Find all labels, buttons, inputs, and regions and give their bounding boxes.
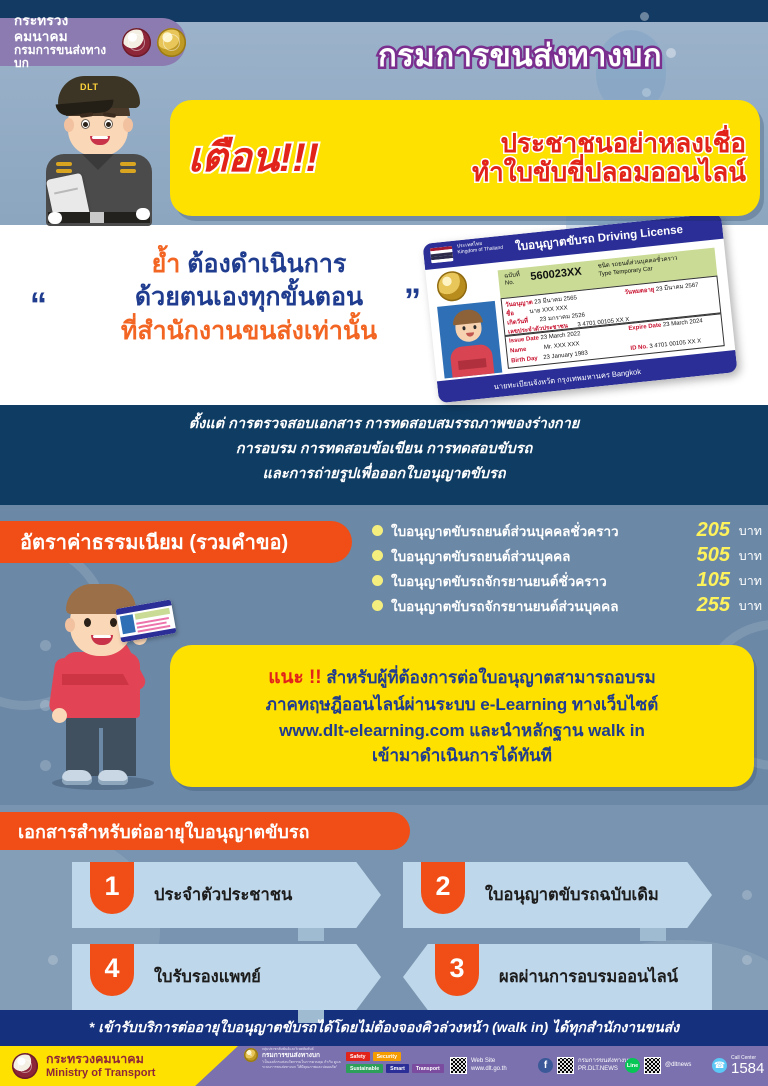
line-icon[interactable]: Line <box>625 1058 640 1073</box>
fee-row: ใบอนุญาตขับรถยนต์ส่วนบุคคล 505 บาท <box>372 543 762 568</box>
emphasis-lead: ย้ำ <box>152 250 181 278</box>
callcenter-number: 1584 <box>731 1061 764 1076</box>
phone-icon[interactable]: ☎ <box>712 1058 727 1073</box>
footnote-text: * เข้ารับบริการต่ออายุใบอนุญาตขับรถได้โด… <box>89 1017 679 1039</box>
process-line-2: การอบรม การทดสอบข้อเขียน การทดสอบขับรถ <box>0 437 768 462</box>
fee-amount: 505 <box>678 544 730 567</box>
facebook-handle: PR.DLT.NEWS <box>578 1066 632 1073</box>
tag-transport: Transport <box>412 1064 444 1073</box>
tag-safety: Safety <box>346 1052 370 1061</box>
tip-line-1: สำหรับผู้ที่ต้องการต่อใบอนุญาตสามารถอบรม <box>326 668 655 687</box>
tip-line-2: ภาคทฤษฎีออนไลน์ผ่านระบบ e-Learning ทางเว… <box>266 692 659 718</box>
footer-ministry-en: Ministry of Transport <box>46 1067 155 1079</box>
document-step-2: 2 ใบอนุญาตขับรถฉบับเดิม <box>403 862 712 928</box>
footer-dlt-name: กรมการขนส่งทางบก <box>262 1052 341 1059</box>
bullet-icon <box>372 575 383 586</box>
footer: กระทรวงคมนาคม Ministry of Transport กลุ่… <box>0 1046 768 1086</box>
facebook-label: กรมการขนส่งทางบก <box>578 1058 632 1065</box>
officer-cap-text: DLT <box>80 82 99 92</box>
fee-row: ใบอนุญาตขับรถจักรยานยนต์ชั่วคราว 105 บาท <box>372 568 762 593</box>
fees-heading-pill: อัตราค่าธรรมเนียม (รวมคำขอ) <box>0 521 352 563</box>
driving-license-card: ประเทศไทย Kingdom of Thailand ใบอนุญาตขั… <box>422 213 737 403</box>
step-label: ใบอนุญาตขับรถฉบับเดิม <box>485 882 659 908</box>
fee-unit: บาท <box>730 521 762 541</box>
fee-unit: บาท <box>730 546 762 566</box>
license-photo <box>437 301 502 379</box>
document-step-1: 1 ประจำตัวประชาชน <box>72 862 381 928</box>
footer-dlt-motto-2: ระบบการขนส่งทางบก ให้มีคุณภาพและปลอดภัย" <box>262 1065 341 1069</box>
officer-character: DLT <box>24 66 174 226</box>
documents-steps: 1 ประจำตัวประชาชน 2 ใบอนุญาตขับรถฉบับเดิ… <box>72 862 712 1026</box>
tip-line-4: เข้ามาดำเนินการได้ทันที <box>372 743 552 769</box>
dlt-seal-icon <box>244 1048 258 1062</box>
license-type-label-th: ชนิด <box>597 263 610 270</box>
fee-row: ใบอนุญาตขับรถจักรยานยนต์ส่วนบุคคล 255 บา… <box>372 593 762 618</box>
ministry-seal-icon <box>12 1053 38 1079</box>
process-text-block: ตั้งแต่ การตรวจสอบเอกสาร การทดสอบสมรรถภา… <box>0 412 768 487</box>
fee-unit: บาท <box>730 571 762 591</box>
fee-label: ใบอนุญาตขับรถยนต์ส่วนบุคคล <box>391 545 678 567</box>
decor-dot <box>742 890 752 900</box>
document-step-4: 4 ใบรับรองแพทย์ <box>72 944 381 1010</box>
citizen-character <box>36 578 176 796</box>
tip-lead: แนะ !! <box>268 667 321 688</box>
documents-heading-pill: เอกสารสำหรับต่ออายุใบอนุญาตขับรถ <box>0 812 410 850</box>
fee-label: ใบอนุญาตขับรถจักรยานยนต์ชั่วคราว <box>391 570 678 592</box>
page-title: กรมการขนส่งทางบก <box>300 30 740 80</box>
tip-panel: แนะ !! สำหรับผู้ที่ต้องการต่อใบอนุญาตสาม… <box>170 645 754 787</box>
process-line-1: ตั้งแต่ การตรวจสอบเอกสาร การทดสอบสมรรถภา… <box>0 412 768 437</box>
step-number: 2 <box>421 858 465 914</box>
footer-line[interactable]: Line @dltnews <box>625 1057 691 1074</box>
facebook-icon[interactable]: f <box>538 1058 553 1073</box>
bullet-icon <box>372 600 383 611</box>
badge-ministry-label: กระทรวงคมนาคม <box>14 13 116 43</box>
badge-department-label: กรมการขนส่งทางบก <box>14 44 116 71</box>
infographic-page: กระทรวงคมนาคม กรมการขนส่งทางบก กรมการขนส… <box>0 0 768 1086</box>
emphasis-block: ย้ำ ต้องดำเนินการ ด้วยตนเองทุกขั้นตอน ที… <box>54 248 444 348</box>
tag-security: Security <box>373 1052 401 1061</box>
step-number: 4 <box>90 940 134 996</box>
website-url: www.dlt.go.th <box>471 1066 507 1073</box>
website-label: Web Site <box>471 1058 507 1065</box>
line-handle: @dltnews <box>665 1062 691 1069</box>
fee-amount: 105 <box>678 569 730 592</box>
header-ministry-badge: กระทรวงคมนาคม กรมการขนส่งทางบก <box>0 18 186 66</box>
step-number: 1 <box>90 858 134 914</box>
documents-heading-label: เอกสารสำหรับต่ออายุใบอนุญาตขับรถ <box>18 817 309 846</box>
step-label: ใบรับรองแพทย์ <box>154 964 261 990</box>
dlt-seal-icon <box>157 28 186 57</box>
tip-line-3: www.dlt-elearning.com และนำหลักฐาน walk … <box>279 718 645 744</box>
thai-flag-icon <box>430 246 453 263</box>
fees-heading-label: อัตราค่าธรรมเนียม (รวมคำขอ) <box>20 526 288 558</box>
document-step-3: 3 ผลผ่านการอบรมออนไลน์ <box>403 944 712 1010</box>
qr-code-facebook-icon[interactable] <box>557 1057 574 1074</box>
step-label: ประจำตัวประชาชน <box>154 882 292 908</box>
warning-line-2: ทำใบขับขี่ปลอมออนไลน์ <box>472 158 746 187</box>
footnote: * เข้ารับบริการต่ออายุใบอนุญาตขับรถได้โด… <box>0 1010 768 1046</box>
bullet-icon <box>372 525 383 536</box>
fee-row: ใบอนุญาตขับรถยนต์ส่วนบุคคลชั่วคราว 205 บ… <box>372 518 762 543</box>
process-line-3: และการถ่ายรูปเพื่อออกใบอนุญาตขับรถ <box>0 462 768 487</box>
license-garuda-icon <box>436 270 469 303</box>
fee-amount: 255 <box>678 594 730 617</box>
footer-callcenter[interactable]: ☎ Call Center 1584 <box>712 1055 764 1076</box>
license-type-label-en: Type <box>598 270 612 277</box>
step-number: 3 <box>435 940 479 996</box>
fee-label: ใบอนุญาตขับรถยนต์ส่วนบุคคลชั่วคราว <box>391 520 678 542</box>
fee-amount: 205 <box>678 519 730 542</box>
footer-website[interactable]: Web Site www.dlt.go.th <box>450 1057 507 1074</box>
footer-tag-group: Safety Security Sustainable Smart Transp… <box>346 1052 444 1073</box>
warning-headline: เตือน!!! <box>188 138 319 178</box>
footer-facebook[interactable]: f กรมการขนส่งทางบก PR.DLT.NEWS <box>538 1057 632 1074</box>
emphasis-line-1: ต้องดำเนินการ <box>187 250 346 278</box>
bullet-icon <box>372 550 383 561</box>
qr-code-line-icon[interactable] <box>644 1057 661 1074</box>
fees-list: ใบอนุญาตขับรถยนต์ส่วนบุคคลชั่วคราว 205 บ… <box>372 518 762 618</box>
footer-ministry-th: กระทรวงคมนาคม <box>46 1053 155 1067</box>
quote-open-icon: “ <box>30 286 47 325</box>
decor-dot <box>640 12 649 21</box>
footer-dlt-motto-1: "เป็นองค์กรแห่งนวัตกรรมในการควบคุม กำกับ… <box>262 1060 341 1064</box>
warning-panel: เตือน!!! ประชาชนอย่าหลงเชื่อ ทำใบขับขี่ป… <box>170 100 760 216</box>
tag-sustainable: Sustainable <box>346 1064 383 1073</box>
ministry-seal-icon <box>122 28 151 57</box>
footer-ministry-block: กระทรวงคมนาคม Ministry of Transport <box>0 1046 238 1086</box>
fee-unit: บาท <box>730 596 762 616</box>
step-label: ผลผ่านการอบรมออนไลน์ <box>499 964 678 990</box>
warning-line-1: ประชาชนอย่าหลงเชื่อ <box>501 129 746 158</box>
tag-smart: Smart <box>386 1064 409 1073</box>
fee-label: ใบอนุญาตขับรถจักรยานยนต์ส่วนบุคคล <box>391 595 678 617</box>
emphasis-line-3: ที่สำนักงานขนส่งเท่านั้น <box>54 315 444 348</box>
qr-code-website-icon[interactable] <box>450 1057 467 1074</box>
emphasis-line-2: ด้วยตนเองทุกขั้นตอน <box>54 281 444 314</box>
